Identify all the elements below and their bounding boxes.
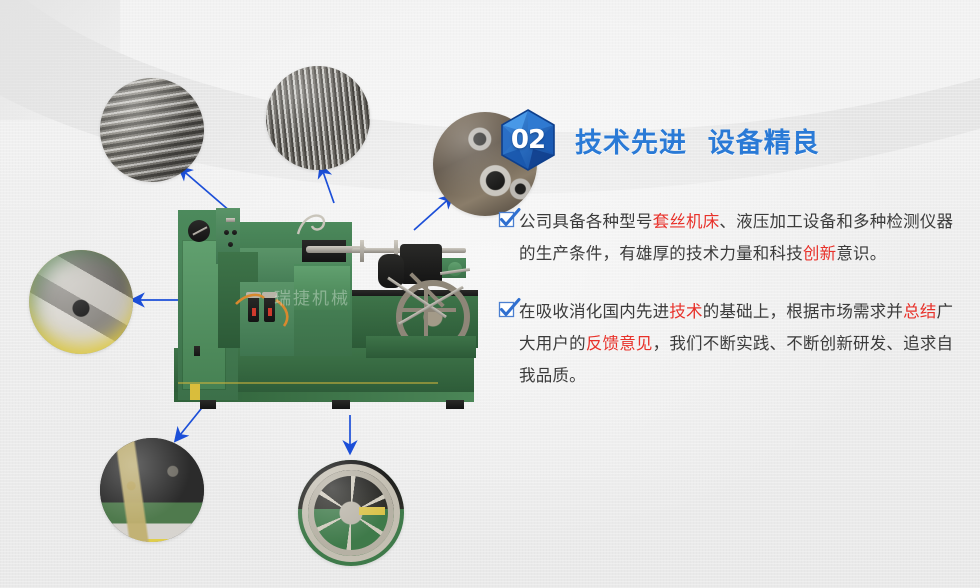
highlighted-text: 反馈意见 [586,334,653,353]
checkbox-checked-icon [497,209,519,231]
detail-photo-valve-block-bottom-left[interactable] [100,438,204,542]
bullet-list: 公司具备各种型号套丝机床、液压加工设备和多种检测仪器的生产条件，有雄厚的技术力量… [497,206,967,392]
promo-banner: 瑞捷机械 [0,0,980,588]
list-item: 公司具备各种型号套丝机床、液压加工设备和多种检测仪器的生产条件，有雄厚的技术力量… [497,206,967,270]
hexagon-badge-number: 02 [497,109,559,171]
checkbox-checked-icon [497,299,519,321]
detail-photo-threaded-bar-top-center[interactable] [266,66,370,170]
detail-photo-handwheel-bottom-center[interactable] [298,460,404,566]
body-text: 公司具备各种型号 [519,212,653,231]
body-text: 在吸收消化国内先进 [519,302,669,321]
thread-rolling-machine-photo[interactable]: 瑞捷机械 [156,196,486,420]
hexagon-badge: 02 [497,109,559,171]
content-panel: 02 技术先进 设备精良 公司具备各种型号套丝机床、液压加工设备和多种检测仪器的… [497,108,967,418]
detail-photo-die-head-left[interactable] [29,250,133,354]
list-item: 在吸收消化国内先进技术的基础上，根据市场需求并总结广大用户的反馈意见，我们不断实… [497,296,967,392]
page-title: 技术先进 设备精良 [575,121,820,160]
highlighted-text: 套丝机床 [653,212,720,231]
detail-photo-threaded-rod-top-left[interactable] [100,78,204,182]
machine-watermark: 瑞捷机械 [274,284,404,309]
body-text: 意识。 [836,244,886,263]
body-text: 的基础上，根据市场需求并 [703,302,903,321]
highlighted-text: 技术 [669,302,702,321]
bullet-text-2: 在吸收消化国内先进技术的基础上，根据市场需求并总结广大用户的反馈意见，我们不断实… [519,296,967,392]
highlighted-text: 总结 [903,302,936,321]
bullet-text-1: 公司具备各种型号套丝机床、液压加工设备和多种检测仪器的生产条件，有雄厚的技术力量… [519,206,967,270]
section-header: 02 技术先进 设备精良 [497,108,967,172]
highlighted-text: 创新 [803,244,836,263]
